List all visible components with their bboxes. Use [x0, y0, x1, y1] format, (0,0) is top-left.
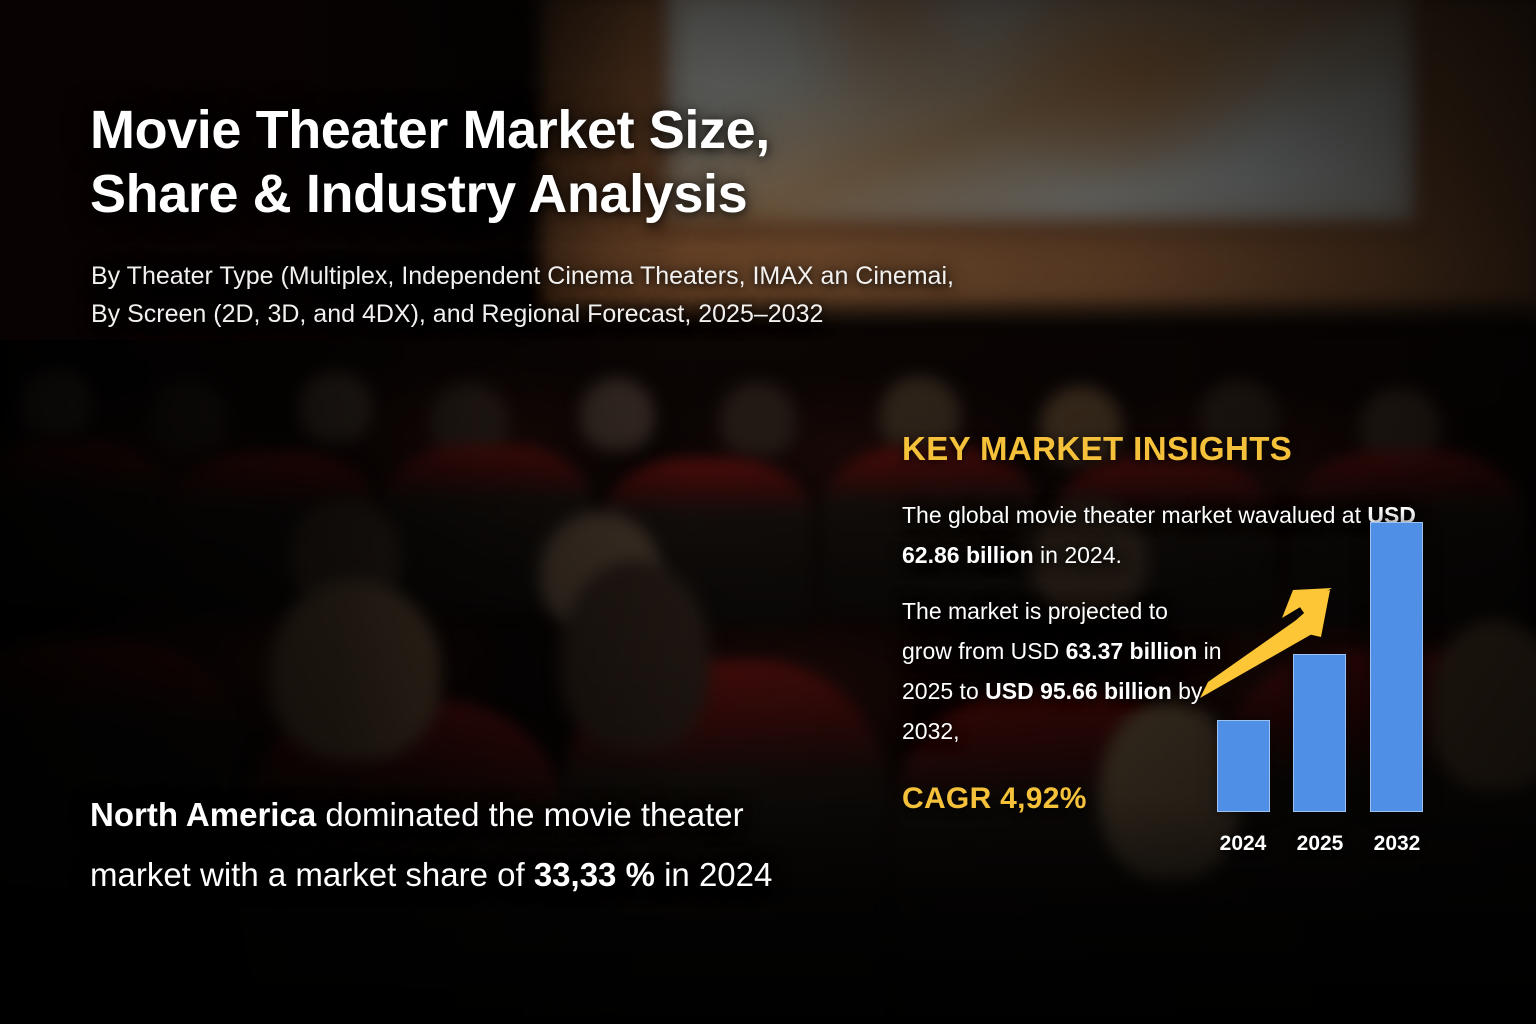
report-title: Movie Theater Market Size, Share & Indus…	[90, 98, 1090, 226]
region-share-value: 33,33 %	[534, 856, 655, 893]
infographic-canvas: Movie Theater Market Size, Share & Indus…	[0, 0, 1536, 1024]
bar-2024	[1217, 720, 1270, 812]
bar-label-2025: 2025	[1285, 832, 1355, 856]
region-name: North America	[90, 796, 316, 833]
bar-label-2032: 2032	[1362, 832, 1432, 856]
bar-2032	[1370, 522, 1423, 812]
insight-1-text-post: in 2024.	[1034, 542, 1122, 568]
insight-2-value-2032: USD 95.66 billion	[985, 678, 1172, 704]
insight-paragraph-forecast: The market is projected to grow from USD…	[902, 591, 1222, 751]
insight-2-value-2025: 63.37 billion	[1066, 638, 1198, 664]
bar-2025	[1293, 654, 1346, 812]
bar-label-2024: 2024	[1208, 832, 1278, 856]
growth-bar-chart: 2024 2025 2032	[1190, 500, 1450, 870]
region-text-end: in 2024	[655, 856, 772, 893]
report-subtitle: By Theater Type (Multiplex, Independent …	[91, 257, 1231, 333]
cagr-value: CAGR 4,92%	[902, 782, 1087, 816]
region-highlight-text: North America dominated the movie theate…	[90, 785, 850, 905]
key-market-insights-heading: KEY MARKET INSIGHTS	[902, 430, 1292, 468]
infographic-content: Movie Theater Market Size, Share & Indus…	[0, 0, 1536, 1024]
